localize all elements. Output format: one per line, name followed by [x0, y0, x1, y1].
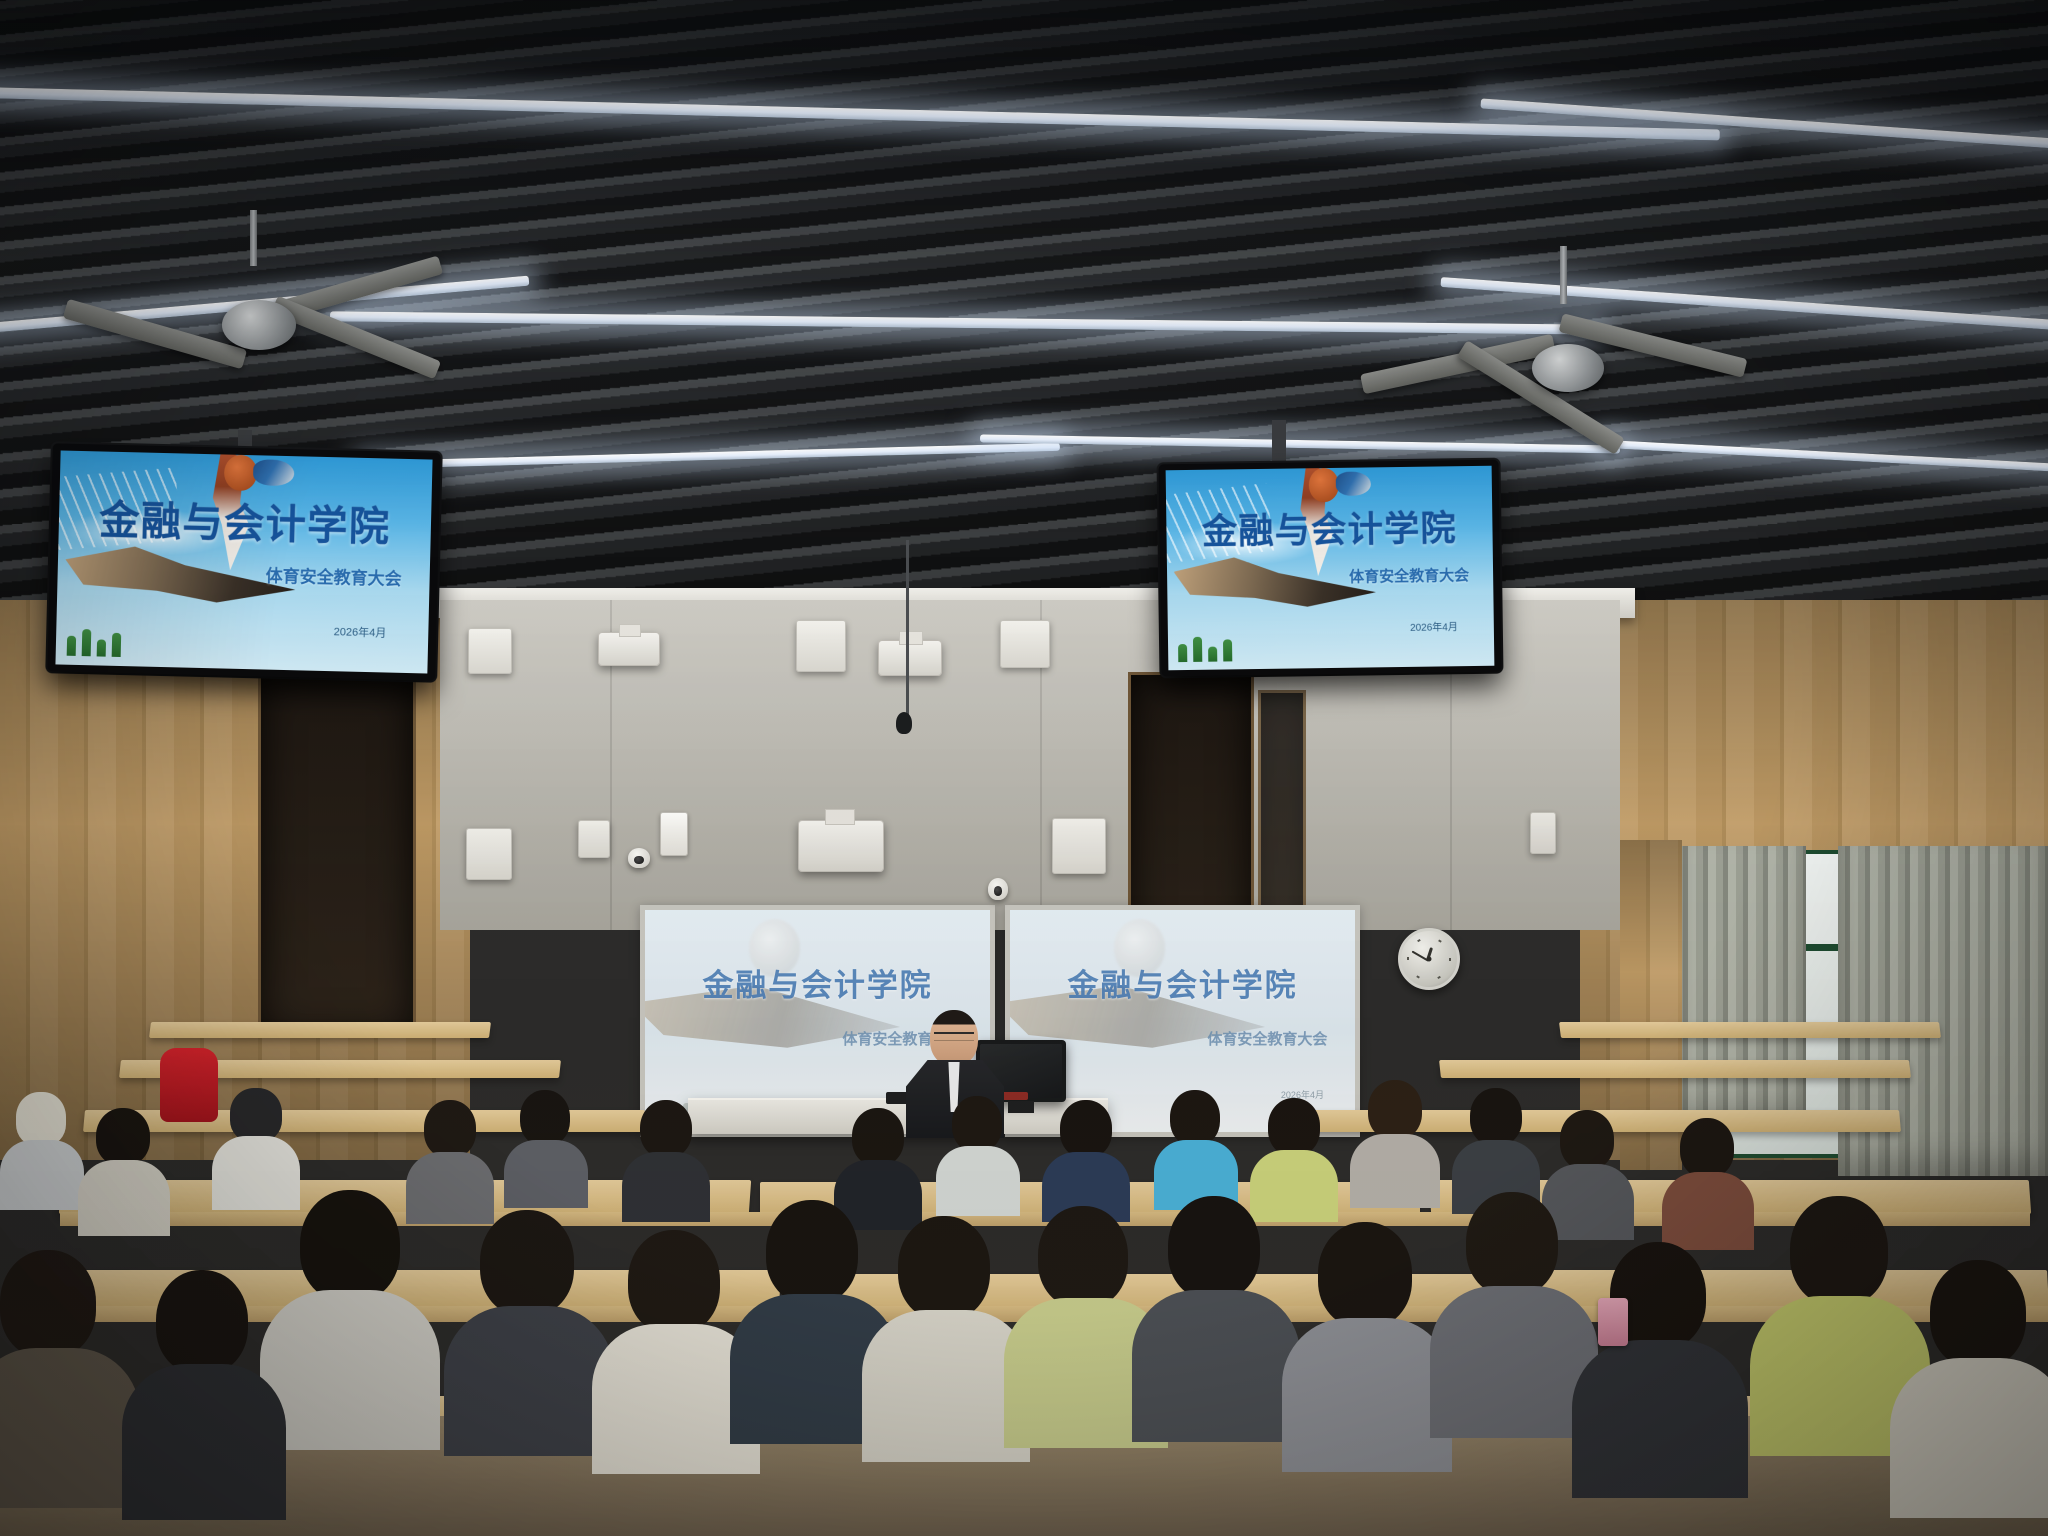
mobile-phone[interactable]	[1598, 1298, 1628, 1346]
hanging-microphone	[896, 712, 912, 734]
ceiling-projector-center	[598, 632, 660, 666]
doorway-left[interactable]	[258, 672, 416, 1038]
hanging-microphone-cable	[906, 540, 909, 722]
wall-control-panel[interactable]	[660, 812, 688, 856]
wall-speaker-center-left	[468, 628, 512, 674]
wall-speaker-left-inner	[578, 820, 610, 858]
tv-slide-subtitle: 体育安全教育大会	[1349, 564, 1469, 587]
desk-row-4	[0, 1110, 2048, 1136]
ceiling-fan	[1370, 300, 1730, 460]
ceiling-projector-right	[878, 640, 942, 676]
screen-title: 金融与会计学院	[1010, 960, 1355, 1005]
ceiling-fan	[100, 262, 430, 412]
red-backpack	[160, 1048, 218, 1122]
wall-speaker-right-outer	[1052, 818, 1106, 874]
tv-slide-subtitle: 体育安全教育大会	[265, 562, 402, 590]
ceiling-projector-left	[798, 820, 884, 872]
desk-row-5	[0, 1060, 2048, 1082]
tv-slide-date: 2026年4月	[1410, 618, 1458, 634]
lecture-hall-photo: 金融与会计学院 体育安全教育大会 2026年4月 金融与会计学院 体育安全教育大…	[0, 0, 2048, 1536]
security-camera-left	[628, 848, 650, 868]
tv-slide-title: 金融与会计学院	[1166, 500, 1493, 556]
wall-speaker-center-right	[1000, 620, 1050, 668]
tv-slide-title: 金融与会计学院	[58, 486, 431, 553]
wall-speaker-center	[796, 620, 846, 672]
wall-speaker-far-right	[1530, 812, 1556, 854]
desk-row-6	[0, 1022, 2048, 1042]
left-tv[interactable]: 金融与会计学院 体育安全教育大会 2026年4月	[47, 443, 440, 680]
screen-title: 金融与会计学院	[645, 960, 990, 1005]
tv-slide-date: 2026年4月	[334, 623, 387, 640]
tv-people-graphic	[1178, 636, 1232, 662]
right-tv[interactable]: 金融与会计学院 体育安全教育大会 2026年4月	[1159, 460, 1502, 677]
security-camera-right	[988, 878, 1008, 900]
wall-speaker-left-outer	[466, 828, 512, 880]
wall-clock	[1398, 928, 1460, 990]
window-curtain-right[interactable]	[1676, 846, 1806, 1126]
tv-people-graphic	[67, 629, 122, 657]
